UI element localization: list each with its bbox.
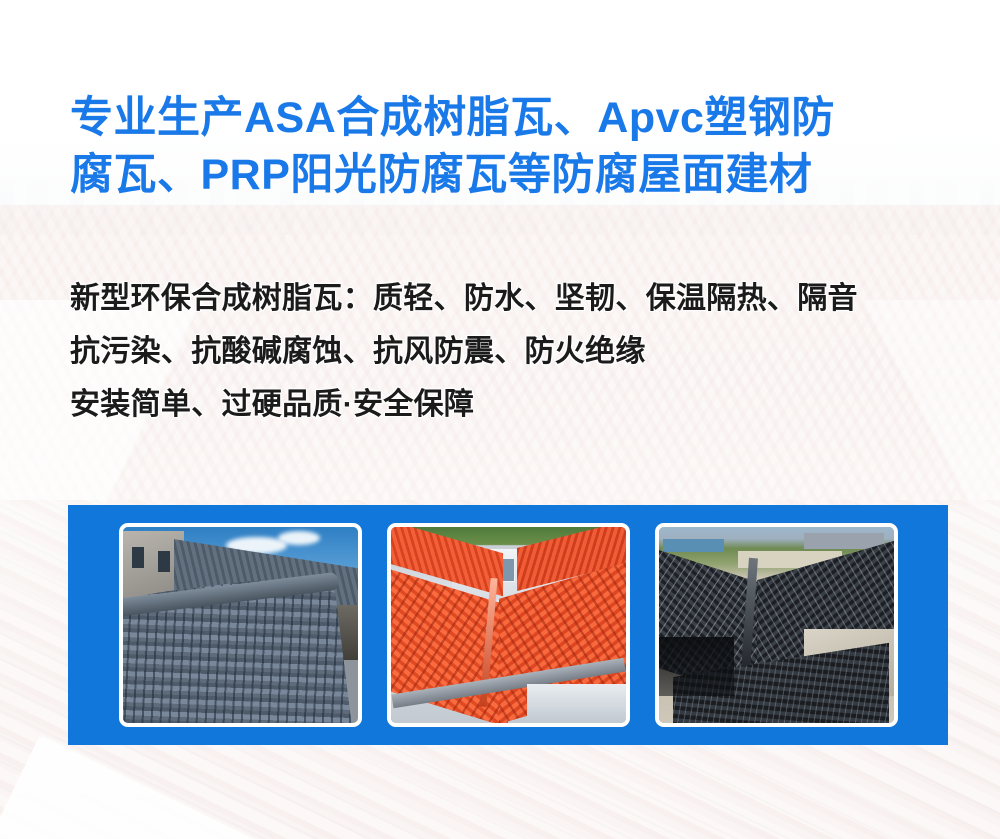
- subtitle-line-1: 新型环保合成树脂瓦：质轻、防水、坚韧、保温隔热、隔音: [70, 272, 970, 325]
- subtitle-line-2: 抗污染、抗酸碱腐蚀、抗风防震、防火绝缘: [70, 325, 970, 378]
- gallery-panel: [68, 505, 948, 745]
- headline-line-2: 腐瓦、PRP阳光防腐瓦等防腐屋面建材: [70, 147, 960, 204]
- photo-3-distant-blue-roof: [663, 539, 724, 553]
- photo-1-content: [123, 527, 358, 723]
- subtitle-block: 新型环保合成树脂瓦：质轻、防水、坚韧、保温隔热、隔音 抗污染、抗酸碱腐蚀、抗风防…: [70, 272, 970, 431]
- photo-1-window: [132, 547, 144, 569]
- headline-block: 专业生产ASA合成树脂瓦、Apvc塑钢防 腐瓦、PRP阳光防腐瓦等防腐屋面建材: [70, 90, 960, 204]
- gray-resin-tile-roof-photo[interactable]: [119, 523, 362, 727]
- photo-1-window: [158, 551, 170, 573]
- subtitle-line-3: 安装简单、过硬品质·安全保障: [70, 378, 970, 431]
- photo-3-content: [659, 527, 894, 723]
- headline-line-1: 专业生产ASA合成树脂瓦、Apvc塑钢防: [70, 90, 960, 147]
- photo-2-content: [391, 527, 626, 723]
- red-resin-tile-roof-photo[interactable]: [387, 523, 630, 727]
- photo-3-under-eave-shadow: [659, 637, 734, 696]
- black-resin-tile-roof-photo[interactable]: [655, 523, 898, 727]
- product-promo-banner: 专业生产ASA合成树脂瓦、Apvc塑钢防 腐瓦、PRP阳光防腐瓦等防腐屋面建材 …: [0, 0, 1000, 839]
- photo-1-cloud: [278, 531, 320, 545]
- photo-2-lower-building: [527, 684, 626, 723]
